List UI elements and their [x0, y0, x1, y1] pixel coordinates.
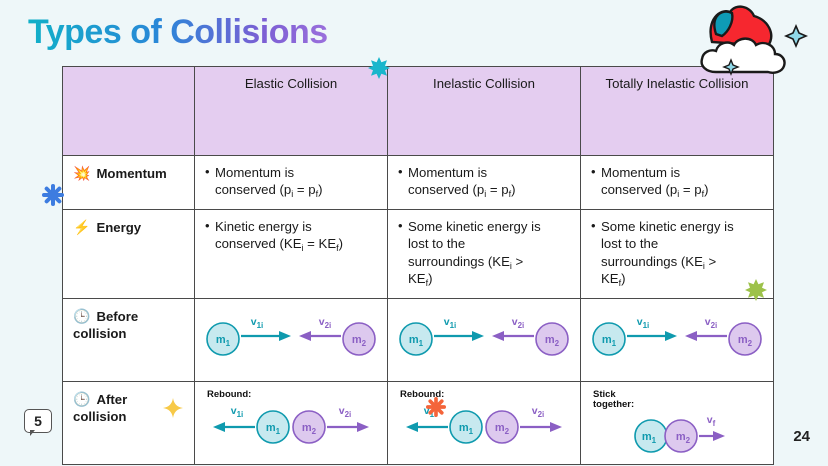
row-label-text: Energy: [96, 220, 141, 235]
bullet-line-2: conserved (p: [215, 182, 291, 197]
caption-rebound: Rebound:: [400, 390, 570, 401]
caption-stick-together: Stick together:: [593, 390, 763, 412]
slide-number-badge[interactable]: 5: [24, 409, 52, 433]
diagram-approach: m1 v1i m2 v2i: [398, 307, 570, 359]
diagram-approach: m1 v1i m2 v2i: [591, 307, 763, 359]
subscript-f: f: [336, 243, 339, 253]
bullet-line-1: Momentum is: [215, 165, 294, 180]
v1i-arrow-head: [279, 331, 291, 341]
bullet-item: Momentum is conserved (pi = pf): [398, 164, 570, 199]
rebound-diagram-svg: m1 v1i m2 v2i: [394, 401, 574, 443]
collision-emoji-icon: 💥: [73, 165, 90, 181]
bullet-line-2: conserved (p: [601, 182, 677, 197]
bullet-line-2: lost to the: [408, 236, 465, 251]
v1i-label: v1i: [251, 316, 264, 330]
bullet-line-1: Momentum is: [601, 165, 680, 180]
flower-petals: [42, 184, 64, 206]
cell-energy-elastic: Kinetic energy is conserved (KEi = KEf): [195, 209, 388, 298]
bullet-line-2: conserved (p: [408, 182, 484, 197]
v2i-label: v2i: [532, 405, 545, 419]
table-header-row: Elastic Collision Inelastic Collision To…: [63, 67, 774, 156]
header-cell-elastic: Elastic Collision: [195, 67, 388, 156]
header-cell-inelastic: Inelastic Collision: [388, 67, 581, 156]
vf-arrow-head: [713, 431, 725, 441]
bullet-line-1: Some kinetic energy is: [601, 219, 734, 234]
cell-after-totally-inelastic: Stick together: m1 m2 vf: [581, 381, 774, 464]
diagram-approach: m1 v1i m2 v2i: [205, 307, 377, 359]
bullet-line-3: surroundings (KE: [601, 254, 703, 269]
diagram-rebound: m1 v1i m2 v2i: [205, 401, 377, 443]
blue-flower-sticker: [42, 184, 64, 206]
bullet-item: Kinetic energy is conserved (KEi = KEf): [205, 218, 377, 253]
bullet-line-2: lost to the: [601, 236, 658, 251]
bullet-mid: = p: [486, 182, 508, 197]
approach-diagram-svg: m1 v1i m2 v2i: [587, 307, 767, 359]
bullet-mid: = p: [293, 182, 315, 197]
stick-diagram-svg: m1 m2 vf: [587, 412, 767, 454]
subscript-f: f: [316, 189, 319, 199]
bullet-gt: >: [512, 254, 523, 269]
subscript-i: i: [291, 189, 293, 199]
clock-emoji-icon: 🕒: [73, 391, 90, 407]
bullet-line-1: Kinetic energy is: [215, 219, 312, 234]
cell-after-inelastic: Rebound: m1 v1i m2 v2i: [388, 381, 581, 464]
v1i-label: v1i: [424, 405, 437, 419]
approach-diagram-svg: m1 v1i m2 v2i: [394, 307, 574, 359]
v1i-arrow-head: [472, 331, 484, 341]
bullet-close: ): [621, 271, 625, 286]
header-cell-blank: [63, 67, 195, 156]
cell-momentum-elastic: Momentum is conserved (pi = pf): [195, 156, 388, 210]
v2i-arrow-head: [299, 331, 311, 341]
caption-rebound: Rebound:: [207, 390, 377, 401]
subscript-f: f: [702, 189, 705, 199]
bullet-line-1: Some kinetic energy is: [408, 219, 541, 234]
v1i-arrow-head: [406, 422, 418, 432]
subscript-i: i: [677, 189, 679, 199]
v2i-arrow-head: [685, 331, 697, 341]
page-title: Types of Collisions: [28, 13, 328, 52]
cell-momentum-totally-inelastic: Momentum is conserved (pi = pf): [581, 156, 774, 210]
v2i-label: v2i: [512, 316, 525, 330]
bullet-item: Some kinetic energy is lost to the surro…: [591, 218, 763, 288]
v1i-arrow-head: [213, 422, 225, 432]
pepper-body: [711, 7, 772, 46]
subscript-i: i: [302, 243, 304, 253]
page-number: 24: [793, 428, 810, 445]
pepper-stem: [714, 12, 732, 36]
bullet-item: Momentum is conserved (pi = pf): [205, 164, 377, 199]
v2i-arrow-head: [492, 331, 504, 341]
cell-before-totally-inelastic: m1 v1i m2 v2i: [581, 298, 774, 381]
bullet-close: ): [428, 271, 432, 286]
bullet-item: Momentum is conserved (pi = pf): [591, 164, 763, 199]
table-row-energy: ⚡Energy Kinetic energy is conserved (KEi…: [63, 209, 774, 298]
subscript-f: f: [426, 278, 429, 288]
bullet-line-4: KE: [601, 271, 619, 286]
sparkle-icon: [786, 26, 806, 46]
cell-before-inelastic: m1 v1i m2 v2i: [388, 298, 581, 381]
v1i-arrow-head: [665, 331, 677, 341]
collisions-comparison-table: Elastic Collision Inelastic Collision To…: [62, 66, 774, 465]
clock-emoji-icon: 🕒: [73, 308, 90, 324]
cell-before-elastic: m1 v1i m2 v2i: [195, 298, 388, 381]
subscript-i: i: [484, 189, 486, 199]
rebound-diagram-svg: m1 v1i m2 v2i: [201, 401, 381, 443]
bullet-item: Some kinetic energy is lost to the surro…: [398, 218, 570, 288]
table-row-before-collision: 🕒Before collision m1 v1i m2 v2i: [63, 298, 774, 381]
diagram-rebound: m1 v1i m2 v2i: [398, 401, 570, 443]
row-label-before-collision: 🕒Before collision: [63, 298, 195, 381]
v2i-label: v2i: [319, 316, 332, 330]
approach-diagram-svg: m1 v1i m2 v2i: [201, 307, 381, 359]
bullet-line-1: Momentum is: [408, 165, 487, 180]
bullet-line-2: conserved (KE: [215, 236, 302, 251]
subscript-f: f: [509, 189, 512, 199]
v2i-arrow-head: [357, 422, 369, 432]
cell-momentum-inelastic: Momentum is conserved (pi = pf): [388, 156, 581, 210]
v2i-label: v2i: [705, 316, 718, 330]
vf-label: vf: [707, 414, 716, 428]
bullet-mid: = p: [679, 182, 701, 197]
bullet-line-4: KE: [408, 271, 426, 286]
bullet-close: ): [339, 236, 343, 251]
v2i-arrow-head: [550, 422, 562, 432]
pepper-eye-left: [733, 43, 739, 49]
cell-energy-totally-inelastic: Some kinetic energy is lost to the surro…: [581, 209, 774, 298]
row-label-energy: ⚡Energy: [63, 209, 195, 298]
row-label-momentum: 💥Momentum: [63, 156, 195, 210]
v2i-label: v2i: [339, 405, 352, 419]
subscript-f: f: [619, 278, 622, 288]
table-row-momentum: 💥Momentum Momentum is conserved (pi = pf…: [63, 156, 774, 210]
pepper-eye-right: [751, 43, 757, 49]
v1i-label: v1i: [637, 316, 650, 330]
subscript-i: i: [703, 261, 705, 271]
diagram-stick-together: m1 m2 vf: [591, 412, 763, 454]
bullet-line-3: surroundings (KE: [408, 254, 510, 269]
subscript-i: i: [510, 261, 512, 271]
bullet-close: ): [704, 182, 708, 197]
cell-after-elastic: Rebound: m1 v1i m2 v2i: [195, 381, 388, 464]
row-label-after-collision: 🕒After collision: [63, 381, 195, 464]
v1i-label: v1i: [231, 405, 244, 419]
table-row-after-collision: 🕒After collision Rebound: m1 v1i m2: [63, 381, 774, 464]
bullet-close: ): [318, 182, 322, 197]
bullet-mid: = KE: [304, 236, 337, 251]
v1i-label: v1i: [444, 316, 457, 330]
row-label-text: Momentum: [96, 166, 166, 181]
cell-energy-inelastic: Some kinetic energy is lost to the surro…: [388, 209, 581, 298]
header-cell-totally-inelastic: Totally Inelastic Collision: [581, 67, 774, 156]
lightning-emoji-icon: ⚡: [73, 219, 90, 235]
bullet-gt: >: [705, 254, 716, 269]
bullet-close: ): [511, 182, 515, 197]
